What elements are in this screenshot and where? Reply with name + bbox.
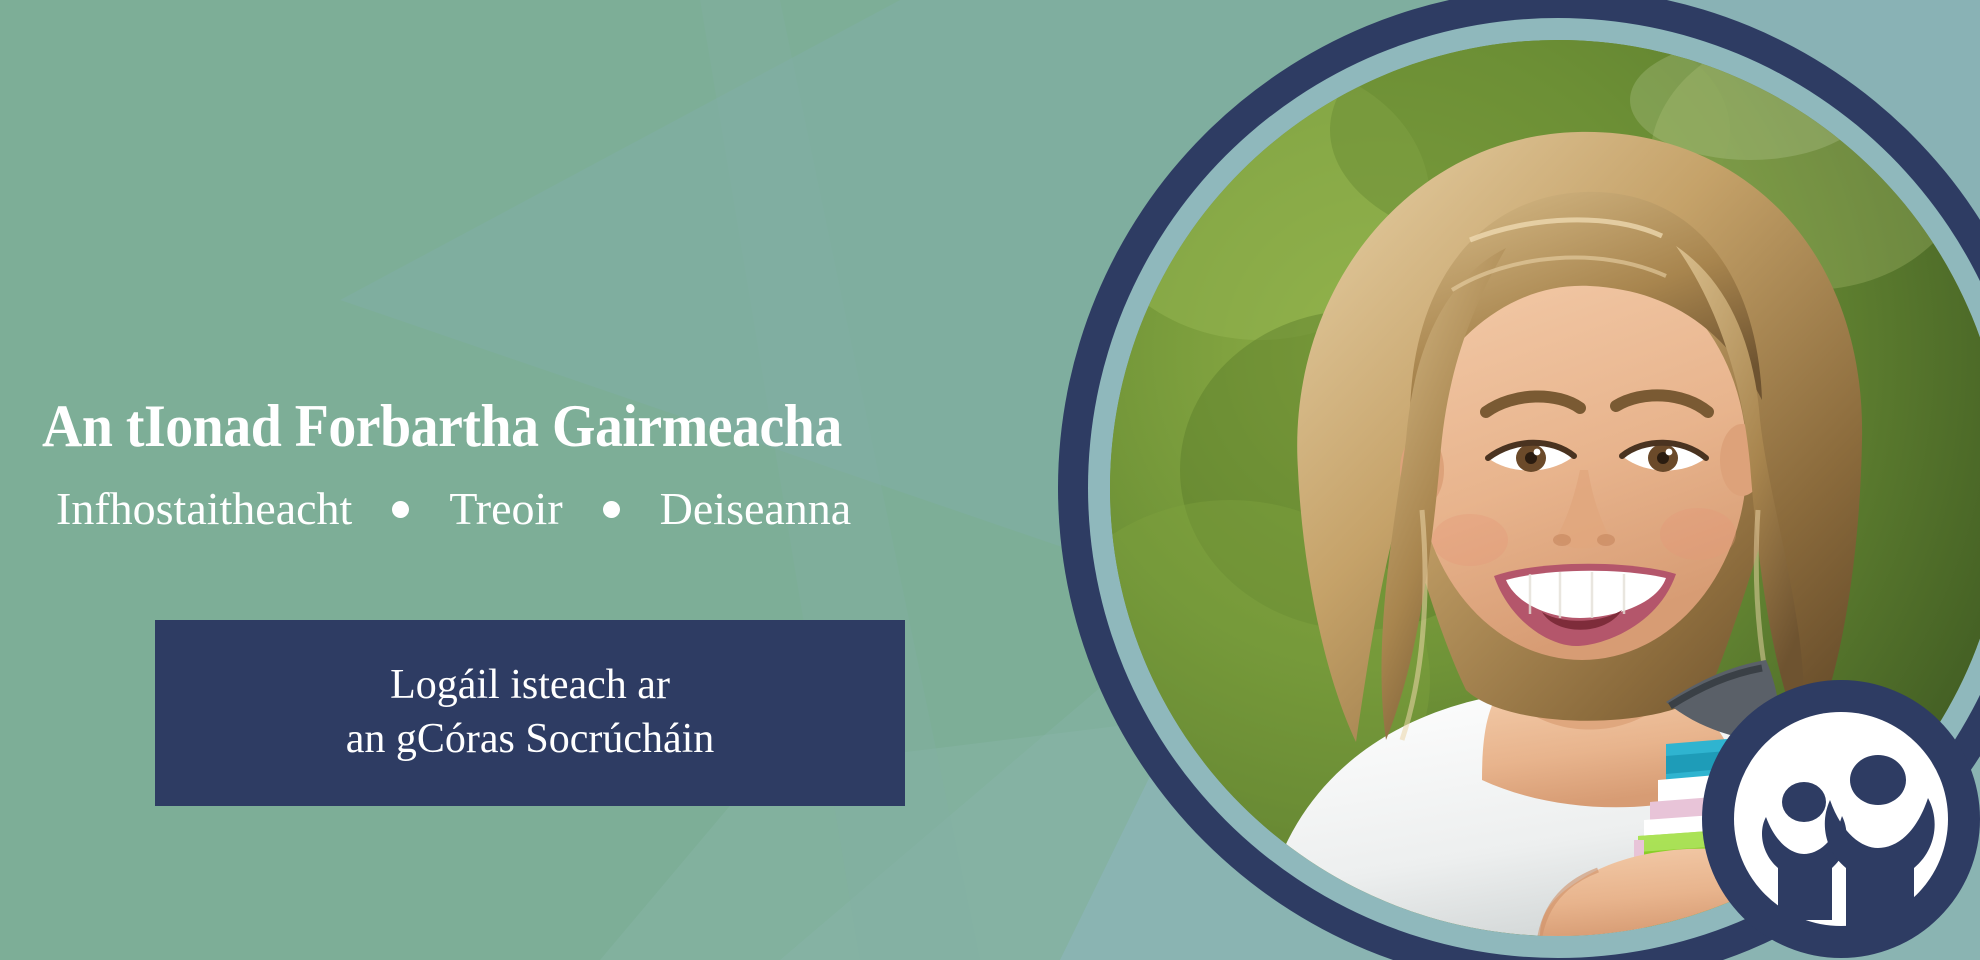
login-button-line-2: an gCóras Socrúcháin — [346, 713, 715, 767]
organisation-logo[interactable] — [1700, 678, 1980, 960]
tagline-list: Infhostaitheacht Treoir Deiseanna — [56, 486, 1052, 532]
tagline-item-employability: Infhostaitheacht — [56, 486, 352, 532]
login-placement-system-button[interactable]: Logáil isteach ar an gCóras Socrúcháin — [155, 620, 905, 806]
bullet-dot-icon — [603, 501, 620, 518]
career-development-centre-banner: An tIonad Forbartha Gairmeacha Infhostai… — [0, 0, 1980, 960]
tagline-item-guidance: Treoir — [449, 486, 562, 532]
page-title: An tIonad Forbartha Gairmeacha — [42, 396, 981, 456]
tagline-item-opportunities: Deiseanna — [660, 486, 852, 532]
login-button-line-1: Logáil isteach ar — [390, 659, 670, 713]
bullet-dot-icon — [392, 501, 409, 518]
banner-text-block: An tIonad Forbartha Gairmeacha Infhostai… — [42, 396, 1052, 532]
two-figures-logo-icon — [1700, 678, 1980, 960]
